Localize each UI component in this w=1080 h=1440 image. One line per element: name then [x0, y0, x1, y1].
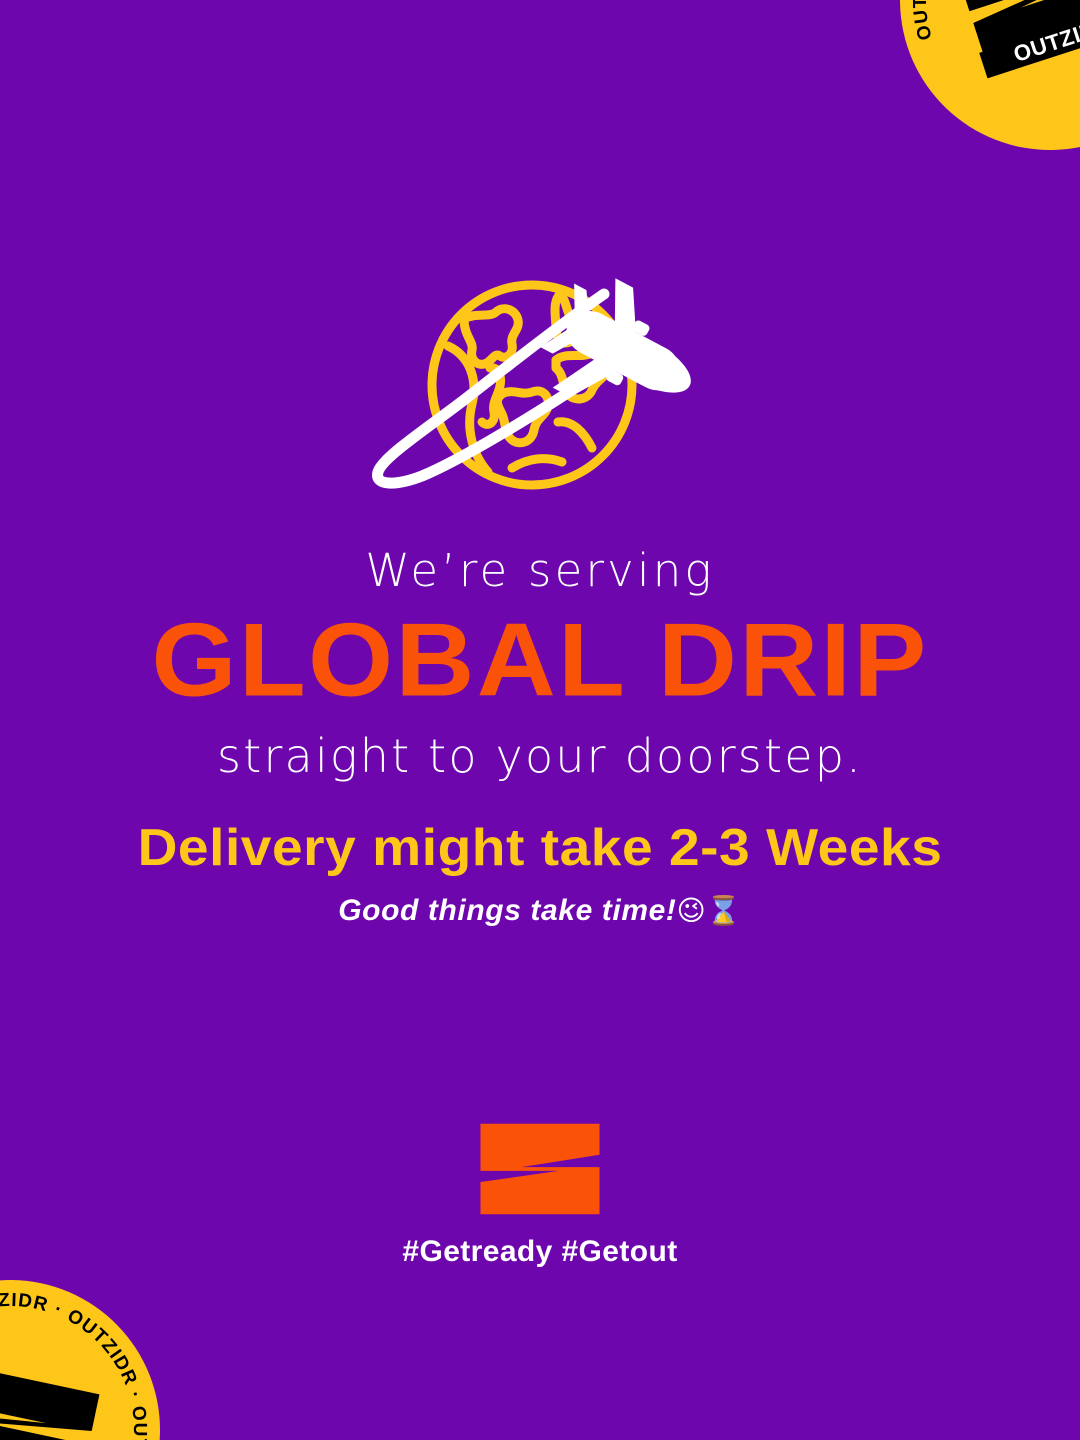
outzidr-z-logo: [478, 1122, 602, 1216]
outzidr-stamp-top-right: OUTZIDR · OUTZIDR · OUTZIDR · OUTZIDR · …: [861, 0, 1080, 189]
delivery-tagline: Good things take time!😉⌛: [0, 896, 1080, 926]
poster-canvas: OUTZIDR · OUTZIDR · OUTZIDR · OUTZIDR · …: [0, 0, 1080, 1440]
footer-brand-block: #Getready #Getout: [0, 1122, 1080, 1267]
hashtags-text: #Getready #Getout: [0, 1237, 1080, 1267]
hourglass-emoji-icon: ⌛: [706, 894, 741, 927]
headline-text: GLOBAL DRIP: [0, 609, 1080, 713]
wink-emoji-icon: 😉: [676, 894, 706, 927]
subline-text: straight to your doorstep.: [0, 733, 1080, 779]
delivery-tagline-text: Good things take time!: [338, 894, 676, 927]
outzidr-stamp-bottom-left: OUTZIDR · OUTZIDR · OUTZIDR · OUTZIDR · …: [0, 1252, 188, 1440]
delivery-notice-block: Delivery might take 2-3 Weeks Good thing…: [0, 822, 1080, 926]
headline-block: We’re serving GLOBAL DRIP straight to yo…: [0, 548, 1080, 779]
delivery-time-text: Delivery might take 2-3 Weeks: [0, 822, 1080, 874]
globe-with-airplane-icon: [360, 272, 720, 507]
eyebrow-text: We’re serving: [0, 548, 1080, 593]
